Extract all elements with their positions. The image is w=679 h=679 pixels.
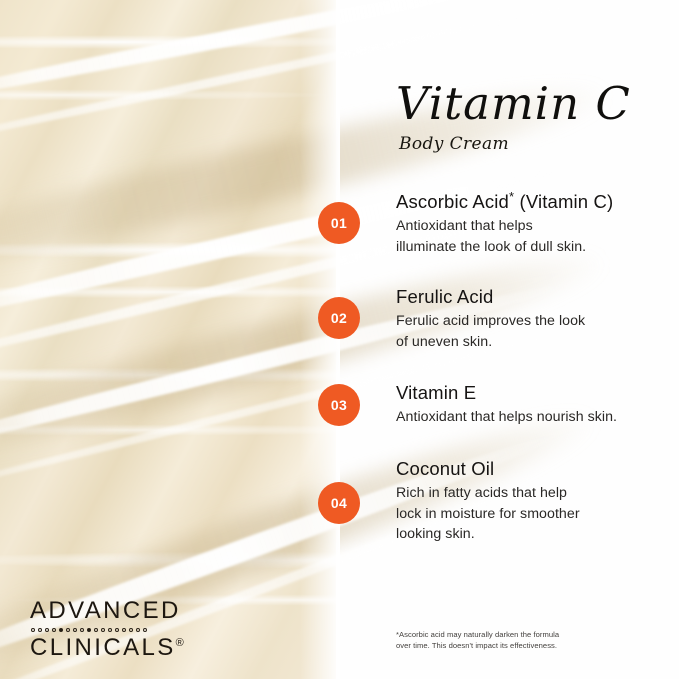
- ingredient-name: Ferulic Acid: [396, 285, 646, 308]
- logo-dot: [136, 628, 140, 632]
- brand-logo-dots: [31, 626, 230, 634]
- logo-dot: [129, 628, 133, 632]
- content-column: Vitamin C Body Cream 01 Ascorbic Acid* (…: [0, 0, 679, 679]
- logo-dot: [66, 628, 70, 632]
- title-block: Vitamin C Body Cream: [396, 78, 656, 155]
- logo-dot: [73, 628, 77, 632]
- ingredient-name-suffix: (Vitamin C): [514, 191, 613, 212]
- badge-number: 04: [331, 495, 347, 511]
- ingredient-item-03: Vitamin E Antioxidant that helps nourish…: [396, 381, 646, 428]
- ingredient-description: Antioxidant that helps nourish skin.: [396, 407, 646, 428]
- logo-dot: [101, 628, 105, 632]
- ingredient-badge-01: 01: [318, 202, 360, 244]
- ingredient-badge-02: 02: [318, 297, 360, 339]
- logo-dot: [87, 628, 91, 632]
- registered-trademark-icon: ®: [176, 637, 184, 649]
- page-subtitle: Body Cream: [399, 133, 656, 155]
- logo-dot: [38, 628, 42, 632]
- ingredient-item-02: Ferulic Acid Ferulic acid improves the l…: [396, 285, 646, 352]
- ingredient-item-04: Coconut Oil Rich in fatty acids that hel…: [396, 457, 646, 545]
- ingredient-description: Rich in fatty acids that help lock in mo…: [396, 483, 646, 545]
- ingredient-badge-04: 04: [318, 482, 360, 524]
- badge-number: 02: [331, 310, 347, 326]
- logo-dot: [94, 628, 98, 632]
- ingredient-name: Ascorbic Acid* (Vitamin C): [396, 190, 646, 213]
- badge-number: 01: [331, 215, 347, 231]
- ingredient-description: Ferulic acid improves the look of uneven…: [396, 311, 646, 352]
- ingredient-name: Vitamin E: [396, 381, 646, 404]
- brand-logo: ADVANCED CLINICALS®: [30, 598, 230, 661]
- badge-number: 03: [331, 397, 347, 413]
- ingredient-description: Antioxidant that helps illuminate the lo…: [396, 216, 646, 257]
- logo-dot: [122, 628, 126, 632]
- ingredient-badge-03: 03: [318, 384, 360, 426]
- page-title: Vitamin C: [396, 78, 656, 130]
- logo-dot: [52, 628, 56, 632]
- logo-dot: [45, 628, 49, 632]
- logo-dot: [115, 628, 119, 632]
- product-infographic: Vitamin C Body Cream 01 Ascorbic Acid* (…: [0, 0, 679, 679]
- brand-logo-line-1: ADVANCED: [30, 598, 230, 624]
- footnote-disclaimer: *Ascorbic acid may naturally darken the …: [396, 630, 636, 651]
- ingredient-name: Coconut Oil: [396, 457, 646, 480]
- logo-dot: [31, 628, 35, 632]
- logo-dot: [108, 628, 112, 632]
- logo-dot: [59, 628, 63, 632]
- logo-dot: [143, 628, 147, 632]
- ingredient-item-01: Ascorbic Acid* (Vitamin C) Antioxidant t…: [396, 190, 646, 257]
- logo-dot: [80, 628, 84, 632]
- brand-logo-line-2: CLINICALS®: [30, 635, 230, 661]
